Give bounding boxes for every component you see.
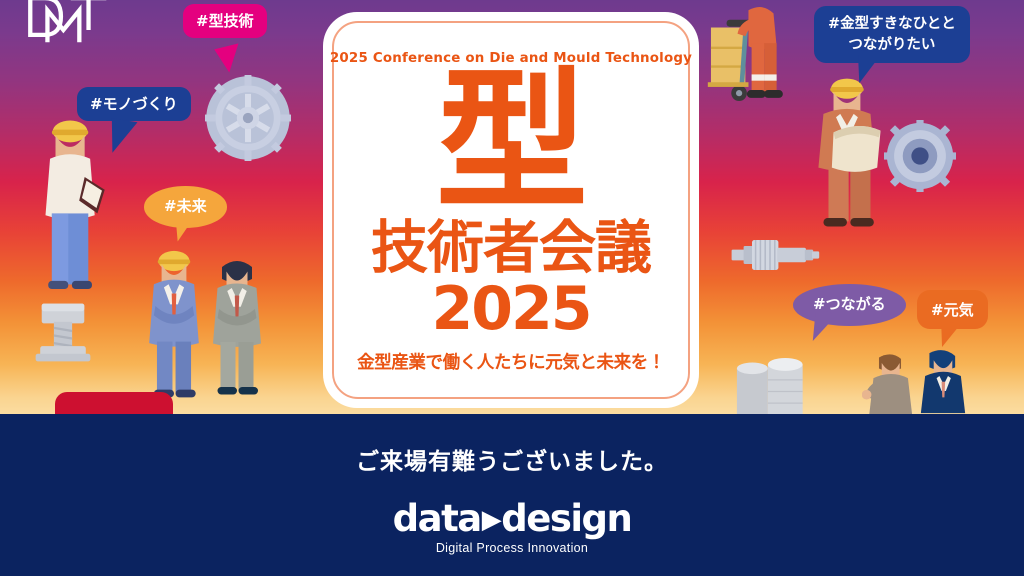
hashtag-label: #元気 — [931, 301, 974, 319]
title-card: 2025 Conference on Die and Mould Technol… — [323, 12, 699, 408]
hashtag-label: #未来 — [164, 197, 207, 215]
cylinders-icon — [733, 358, 813, 416]
hashtag-label: #モノづくり — [90, 95, 178, 113]
bubble-tail — [107, 118, 138, 156]
worker-notebook-illustration — [30, 110, 112, 295]
thank-you-message: ご来場有難うございました。 — [0, 442, 1024, 476]
bubble-tail — [937, 321, 961, 350]
bolt-icon — [25, 296, 101, 372]
dmt-logo-icon — [18, 0, 110, 50]
hashtag-bubble-kanagata-suki: #金型すきなひとと つながりたい — [814, 6, 970, 63]
logo-tagline: Digital Process Innovation — [0, 541, 1024, 555]
person-waving-illustration — [862, 352, 918, 414]
bubble-tail — [854, 50, 882, 85]
hashtag-bubble-monozukuri: #モノづくり — [77, 87, 191, 121]
bubble-tail — [101, 392, 123, 394]
hashtag-label-line2: つながりたい — [828, 35, 956, 56]
gear-small-icon — [884, 120, 956, 192]
machined-shaft-icon — [728, 228, 824, 282]
bubble-tail — [173, 215, 195, 243]
logo-triangle-icon: ▶ — [482, 507, 501, 533]
worker-hardhat-suit-illustration — [143, 232, 205, 414]
person-navy-suit-illustration — [918, 348, 968, 414]
businessman-gray-illustration — [207, 235, 267, 413]
worker-dolly-illustration — [700, 0, 786, 120]
hashtag-label: #型技術 — [196, 12, 254, 30]
hashtag-bubble-mirai: #未来 — [144, 186, 227, 228]
headline-subline: 技術者会議 — [371, 220, 651, 277]
logo-word-design: design — [501, 497, 631, 540]
headline-tagline: 金型産業で働く人たちに元気と未来を！ — [357, 349, 665, 374]
data-design-logo: data▶design Digital Process Innovation — [0, 500, 1024, 555]
hashtag-label-line1: #金型すきなひとと — [828, 14, 956, 35]
worker-blueprint-illustration — [810, 70, 894, 230]
headline-year: 2025 — [432, 279, 591, 339]
hashtag-bubble-genki: #元気 — [917, 290, 988, 329]
hashtag-bubble-tsunagaru: #つながる — [793, 284, 906, 326]
poster-canvas: 2025 Conference on Die and Mould Technol… — [0, 0, 1024, 576]
headline-kanji: 型 — [436, 72, 586, 212]
gear-large-icon — [205, 75, 291, 161]
hashtag-bubble-kata-gijutsu: #型技術 — [183, 4, 267, 38]
logo-word-data: data — [393, 497, 481, 540]
